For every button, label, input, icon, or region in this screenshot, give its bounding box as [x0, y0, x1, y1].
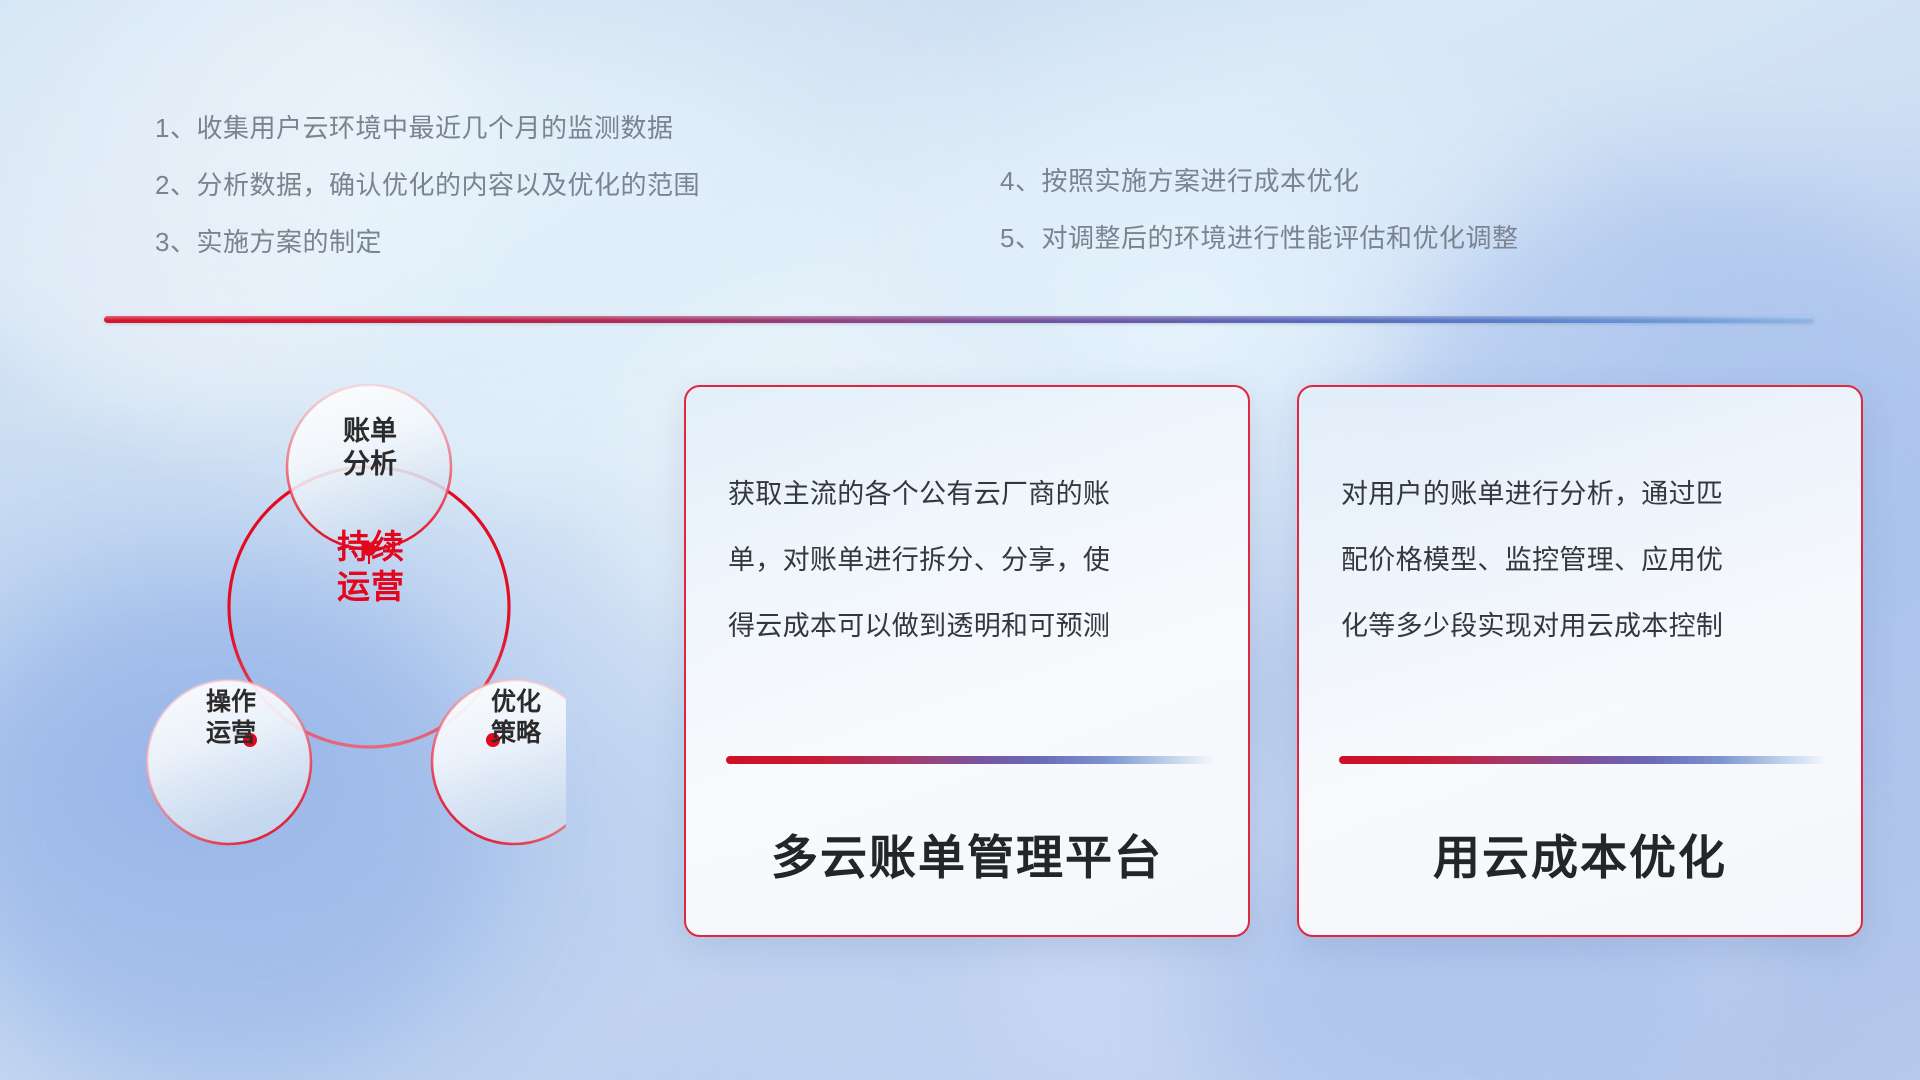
- card-body-text: 对用户的账单进行分析，通过匹 配价格模型、监控管理、应用优 化等多少段实现对用云…: [1341, 461, 1823, 659]
- venn-circle-bottom-right: [432, 680, 566, 844]
- steps-column-left: 1、收集用户云环境中最近几个月的监测数据 2、分析数据，确认优化的内容以及优化的…: [155, 100, 700, 271]
- step-item: 1、收集用户云环境中最近几个月的监测数据: [155, 100, 700, 157]
- card-accent-rule: [726, 756, 1214, 764]
- step-item: 4、按照实施方案进行成本优化: [1000, 153, 1518, 210]
- card-body-line: 对用户的账单进行分析，通过匹: [1341, 461, 1823, 527]
- card-body-line: 单，对账单进行拆分、分享，使: [728, 527, 1210, 593]
- card-body-line: 配价格模型、监控管理、应用优: [1341, 527, 1823, 593]
- venn-node-bottom-left: [243, 733, 257, 747]
- step-item: 5、对调整后的环境进行性能评估和优化调整: [1000, 210, 1518, 267]
- step-item: 2、分析数据，确认优化的内容以及优化的范围: [155, 157, 700, 214]
- gradient-divider: [104, 316, 1814, 323]
- venn-svg: [96, 352, 566, 922]
- venn-node-bottom-right: [486, 733, 500, 747]
- content-card-cloud-cost-optimization: 对用户的账单进行分析，通过匹 配价格模型、监控管理、应用优 化等多少段实现对用云…: [1297, 385, 1863, 937]
- venn-circle-top: [287, 385, 451, 549]
- slide-canvas: 1、收集用户云环境中最近几个月的监测数据 2、分析数据，确认优化的内容以及优化的…: [0, 0, 1920, 1080]
- venn-circle-bottom-left: [147, 680, 311, 844]
- card-body-line: 得云成本可以做到透明和可预测: [728, 593, 1210, 659]
- card-body-text: 获取主流的各个公有云厂商的账 单，对账单进行拆分、分享，使 得云成本可以做到透明…: [728, 461, 1210, 659]
- venn-node-top: [362, 542, 376, 556]
- steps-section: 1、收集用户云环境中最近几个月的监测数据 2、分析数据，确认优化的内容以及优化的…: [0, 96, 1920, 296]
- content-card-multicloud-billing: 获取主流的各个公有云厂商的账 单，对账单进行拆分、分享，使 得云成本可以做到透明…: [684, 385, 1250, 937]
- venn-diagram: 账单 分析 持续 运营 操作 运营 优化 策略: [96, 352, 566, 922]
- card-body-line: 获取主流的各个公有云厂商的账: [728, 461, 1210, 527]
- steps-column-right: 4、按照实施方案进行成本优化 5、对调整后的环境进行性能评估和优化调整: [1000, 153, 1518, 267]
- card-accent-rule: [1339, 756, 1827, 764]
- card-title: 多云账单管理平台: [686, 819, 1248, 888]
- step-item: 3、实施方案的制定: [155, 214, 700, 271]
- card-title: 用云成本优化: [1299, 819, 1861, 888]
- card-body-line: 化等多少段实现对用云成本控制: [1341, 593, 1823, 659]
